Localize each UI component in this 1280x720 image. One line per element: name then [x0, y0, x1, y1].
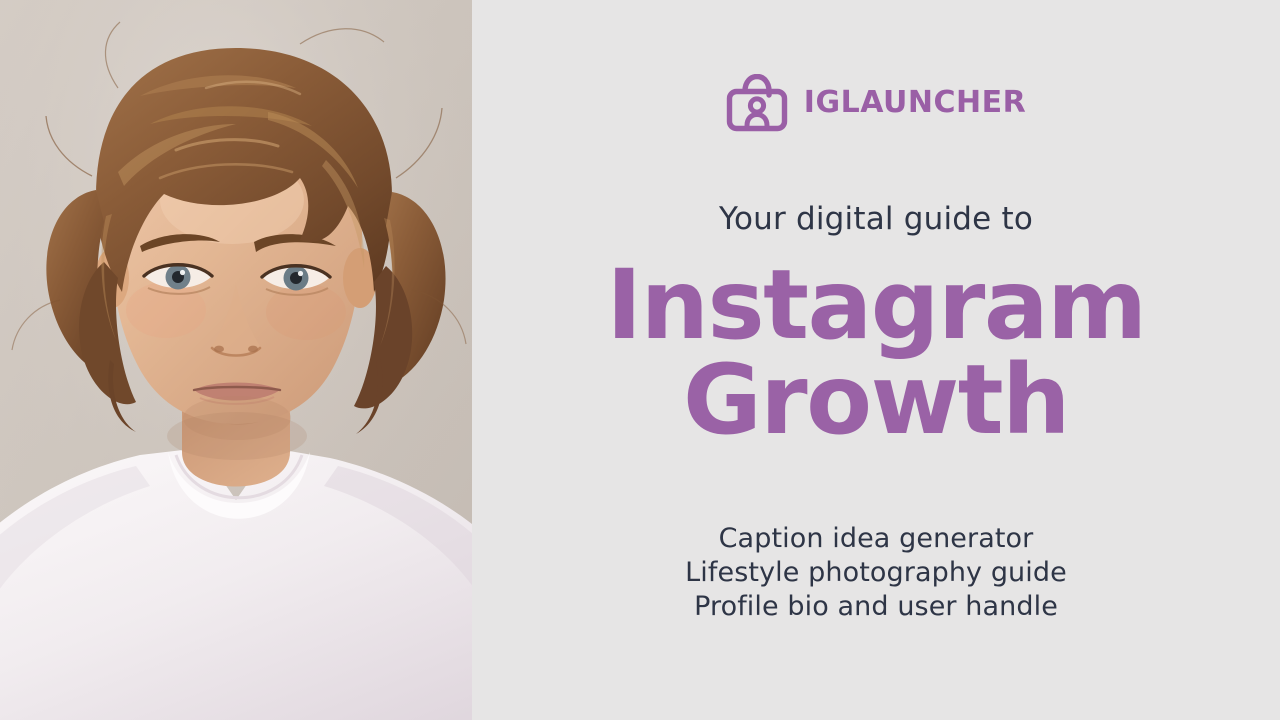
portrait-illustration	[0, 0, 472, 720]
list-item: Caption idea generator	[685, 522, 1067, 556]
list-item: Lifestyle photography guide	[685, 556, 1067, 590]
promo-slide: Portrait of a young man with wavy light-…	[0, 0, 1280, 720]
bag-with-person-icon	[726, 74, 788, 132]
brand-lockup[interactable]: IGLAUNCHER	[726, 72, 1026, 134]
list-item: Profile bio and user handle	[685, 590, 1067, 624]
headline-line-2: Growth	[606, 353, 1145, 448]
portrait-photo: Portrait of a young man with wavy light-…	[0, 0, 472, 720]
hero-eyebrow: Your digital guide to	[719, 202, 1033, 236]
content-panel: IGLAUNCHER Your digital guide to Instagr…	[472, 0, 1280, 720]
headline-line-1: Instagram	[606, 258, 1145, 353]
brand-name: IGLAUNCHER	[804, 88, 1026, 118]
feature-list: Caption idea generator Lifestyle photogr…	[685, 522, 1067, 623]
photo-panel: Portrait of a young man with wavy light-…	[0, 0, 472, 720]
page-title: Instagram Growth	[606, 258, 1145, 448]
